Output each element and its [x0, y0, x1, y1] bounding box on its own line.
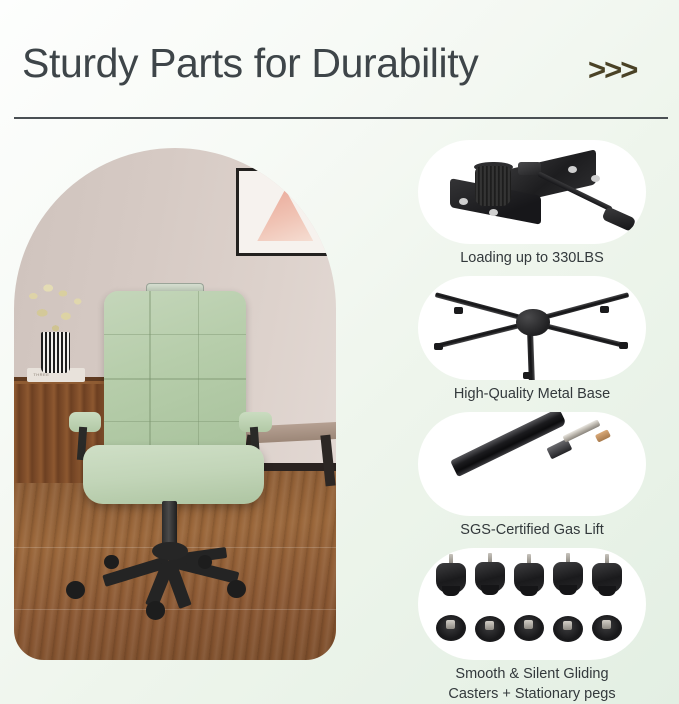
caster-wheel: [514, 563, 544, 593]
caster-wheel: [475, 562, 505, 592]
feature-item: High-Quality Metal Base: [398, 276, 666, 404]
gas-lift-image: [418, 412, 646, 516]
header: Sturdy Parts for Durability >>>: [0, 0, 679, 118]
peg-stem: [485, 621, 494, 630]
gas-piston-rod: [562, 420, 600, 444]
page-title: Sturdy Parts for Durability: [22, 40, 478, 87]
lever-grip: [601, 206, 636, 231]
tilt-mechanism-image: [418, 140, 646, 244]
base-foot: [600, 306, 609, 313]
plate-hole: [489, 209, 498, 216]
chair-room-photo: THREE: [14, 148, 336, 660]
base-foot: [454, 307, 463, 314]
base-hub: [152, 542, 187, 560]
peg-stem: [602, 620, 611, 629]
chair-caster: [104, 555, 118, 569]
gas-cylinder-collar: [546, 439, 572, 460]
peg-stem: [446, 620, 455, 629]
feature-item: Smooth & Silent Gliding Casters + Statio…: [398, 548, 666, 703]
base-foot: [434, 343, 443, 350]
caster-wheel: [436, 563, 466, 593]
feature-caption: Loading up to 330LBS: [398, 249, 666, 268]
peg-stem: [563, 621, 572, 630]
chair-backrest: [104, 291, 246, 455]
caster-wheel: [592, 563, 622, 593]
feature-caption-line: Smooth & Silent Gliding: [398, 665, 666, 684]
gas-cylinder-body: [451, 412, 567, 477]
art-shape: [257, 189, 313, 241]
tension-knob: [475, 166, 511, 206]
dried-flowers: [20, 276, 94, 343]
tuft-seam: [104, 334, 246, 336]
chair-caster: [66, 581, 85, 599]
infographic-page: Sturdy Parts for Durability >>> THREE: [0, 0, 679, 704]
feature-caption-line: Casters + Stationary pegs: [398, 685, 666, 704]
chair-seat-cushion: [83, 445, 263, 504]
casters-and-pegs-image: [418, 548, 646, 660]
tuft-seam: [149, 291, 151, 455]
framed-art: [236, 168, 336, 255]
chevron-right-triple-icon: >>>: [588, 52, 636, 88]
tuft-seam: [198, 291, 200, 455]
room-scene: THREE: [14, 148, 336, 660]
chair-caster: [227, 580, 246, 598]
floor-seam: [14, 609, 336, 610]
caster-wheel: [553, 562, 583, 592]
metal-base-image: [418, 276, 646, 380]
plate-hole: [591, 175, 600, 182]
gas-rod-tip: [595, 429, 611, 442]
features-list: Loading up to 330LBS High-Quality Metal …: [398, 140, 666, 704]
base-foot: [619, 342, 628, 349]
tuft-seam: [104, 421, 246, 423]
feature-item: Loading up to 330LBS: [398, 140, 666, 268]
feature-item: SGS-Certified Gas Lift: [398, 412, 666, 540]
tuft-seam: [104, 378, 246, 380]
chair-caster: [146, 601, 165, 619]
base-hub: [516, 309, 550, 336]
feature-caption: High-Quality Metal Base: [398, 385, 666, 404]
feature-caption: Smooth & Silent Gliding Casters + Statio…: [398, 665, 666, 703]
base-foot: [523, 372, 532, 379]
peg-stem: [524, 620, 533, 629]
feature-caption: SGS-Certified Gas Lift: [398, 521, 666, 540]
header-divider: [14, 117, 668, 119]
